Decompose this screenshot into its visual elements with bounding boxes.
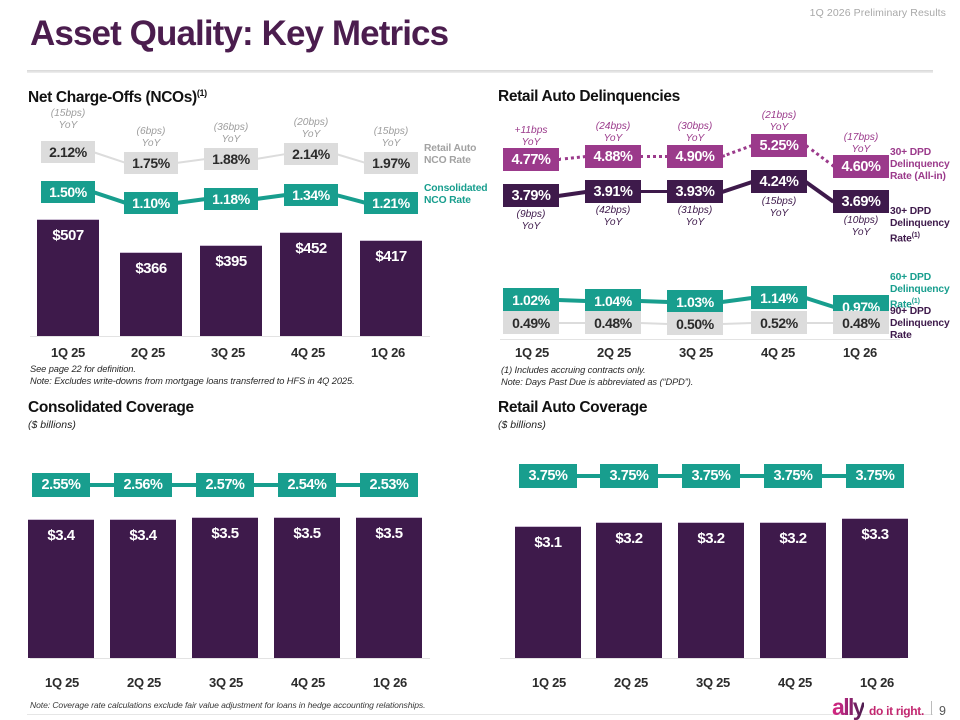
del-60plus-legend-line-1: Delinquency (890, 284, 950, 295)
retail-auto-coverage-rate-chip: 3.75% (519, 464, 577, 488)
nco-retail-rate-chip: 2.12% (41, 141, 95, 163)
footer-note: Note: Coverage rate calculations exclude… (30, 700, 425, 710)
del-60plus-connector (640, 299, 668, 303)
del-30plus-allin-chip: 4.90% (667, 145, 723, 168)
del-60plus-chip: 1.04% (585, 289, 641, 312)
nco-retail-legend-line-0: Retail Auto (424, 143, 476, 154)
consolidated-coverage-bar-value: $3.5 (211, 525, 238, 658)
consolidated-coverage-quarter-labels-item: 2Q 25 (103, 675, 185, 690)
del-30plus-yoy-line-1: YoY (852, 227, 871, 238)
retail-auto-coverage-bar: $3.3 (842, 518, 908, 658)
consolidated-coverage-rate-chip: 2.54% (278, 473, 336, 497)
del-90plus-connector (722, 322, 752, 325)
consolidated-coverage-bar-value: $3.4 (129, 527, 156, 658)
del-allin-yoy-line-1: YoY (852, 144, 871, 155)
retail-auto-coverage-quarter-labels-item: 4Q 25 (754, 675, 836, 690)
consolidated-coverage-quarter-labels-item: 4Q 25 (267, 675, 349, 690)
del-30plus-legend-line-1: Delinquency (890, 218, 950, 229)
nco-retail-yoy-line-1: YoY (302, 129, 321, 140)
consolidated-coverage-rate-connector (89, 483, 115, 487)
retail-auto-coverage-quarter-labels-item: 1Q 25 (508, 675, 590, 690)
del-allin-yoy-line-0: (17bps) (844, 132, 879, 143)
del-allin-yoy: (21bps)YoY (724, 110, 834, 134)
nco-bar: $395 (200, 245, 262, 336)
del-30plus-yoy-line-1: YoY (522, 221, 541, 232)
del-30plus-connector (640, 190, 668, 194)
slide: 1Q 2026 Preliminary Results Asset Qualit… (0, 0, 960, 720)
del-allin-yoy-line-0: (21bps) (762, 110, 797, 121)
nco-retail-rate-chip: 1.88% (204, 148, 258, 170)
ally-wordmark: ally (832, 694, 864, 720)
del-allin-legend-line-1: Delinquency (890, 159, 950, 170)
del-30plus-chip: 4.24% (751, 170, 807, 193)
nco-quarter-labels-item: 1Q 26 (348, 345, 428, 360)
nco-retail-rate-chip: 2.14% (284, 143, 338, 165)
retail-auto-coverage-rate-connector (657, 474, 683, 478)
del-allin-legend-line-0: 30+ DPD (890, 147, 931, 158)
consolidated-coverage-quarter-labels-item: 3Q 25 (185, 675, 267, 690)
consolidated-coverage-quarter-labels: 1Q 252Q 253Q 254Q 251Q 26 (21, 675, 431, 690)
nco-retail-yoy-line-0: (15bps) (51, 108, 86, 119)
retail-auto-coverage-rate-connector (739, 474, 765, 478)
retail-auto-coverage-quarter-labels-item: 1Q 26 (836, 675, 918, 690)
del-allin-yoy-line-1: YoY (770, 122, 789, 133)
del-allin-yoy-line-1: YoY (686, 133, 705, 144)
retail-auto-coverage-bar: $3.1 (515, 526, 581, 658)
ally-logo: ally do it right. 9 (832, 694, 946, 720)
del-90plus-chip: 0.49% (503, 311, 559, 334)
nco-quarter-labels-item: 2Q 25 (108, 345, 188, 360)
del-30plus-allin-chip: 5.25% (751, 134, 807, 157)
nco-consolidated-rate-chip: 1.50% (41, 181, 95, 203)
consolidated-coverage-rate-chip: 2.55% (32, 473, 90, 497)
retail-auto-coverage-bar: $3.2 (760, 522, 826, 658)
nco-quarter-labels: 1Q 252Q 253Q 254Q 251Q 26 (28, 345, 428, 360)
del-60plus-legend-sup: (1) (912, 298, 920, 305)
slide-kicker: 1Q 2026 Preliminary Results (810, 7, 946, 19)
del-90plus-connector (558, 322, 586, 324)
title-divider (27, 70, 933, 73)
del-footnote-0: (1) Includes accruing contracts only. (501, 365, 645, 375)
nco-retail-rate-chip: 1.75% (124, 152, 178, 174)
nco-consolidated-legend: ConsolidatedNCO Rate (424, 183, 487, 207)
retail-auto-coverage-bar-value: $3.2 (779, 530, 806, 658)
nco-quarter-labels-item: 1Q 25 (28, 345, 108, 360)
del-allin-yoy-line-0: (24bps) (596, 121, 631, 132)
del-quarter-labels-item: 1Q 25 (491, 345, 573, 360)
del-90plus-chip: 0.50% (667, 312, 723, 335)
nco-retail-legend: Retail AutoNCO Rate (424, 143, 476, 167)
nco-bar: $366 (120, 252, 182, 336)
del-60plus-chip: 1.02% (503, 288, 559, 311)
del-quarter-labels-item: 3Q 25 (655, 345, 737, 360)
consolidated-coverage-quarter-labels-item: 1Q 25 (21, 675, 103, 690)
nco-retail-rate-chip: 1.97% (364, 152, 418, 174)
nco-consolidated-rate-chip: 1.18% (204, 188, 258, 210)
nco-bar: $452 (280, 232, 342, 336)
nco-retail-yoy-line-0: (6bps) (137, 126, 166, 137)
panel-subtitle-consolidated-coverage: ($ billions) (28, 419, 480, 431)
del-30plus-yoy-line-0: (15bps) (762, 196, 797, 207)
del-30plus-yoy-line-1: YoY (770, 208, 789, 219)
consolidated-coverage-bar: $3.4 (28, 519, 94, 658)
del-axis (500, 339, 900, 340)
del-30plus-yoy-line-0: (10bps) (844, 215, 879, 226)
page-title: Asset Quality: Key Metrics (30, 14, 448, 54)
consolidated-coverage-bar-value: $3.5 (375, 525, 402, 658)
del-30plus-allin-chip: 4.77% (503, 148, 559, 171)
retail-auto-coverage-bar-value: $3.2 (615, 530, 642, 658)
retail-auto-coverage-quarter-labels-item: 3Q 25 (672, 675, 754, 690)
del-30plus-chip: 3.69% (833, 190, 889, 213)
retail-auto-coverage-rate-chip: 3.75% (846, 464, 904, 488)
del-90plus-legend-line-1: Delinquency (890, 318, 950, 329)
panel-subtitle-retail-auto-coverage: ($ billions) (498, 419, 950, 431)
del-quarter-labels-item: 1Q 26 (819, 345, 901, 360)
nco-retail-yoy-line-0: (36bps) (214, 122, 249, 133)
nco-quarter-labels-item: 3Q 25 (188, 345, 268, 360)
del-30plus-allin-chip: 4.60% (833, 155, 889, 178)
panel-title-retail-auto-coverage: Retail Auto Coverage (498, 399, 950, 417)
del-60plus-legend-line-0: 60+ DPD (890, 272, 931, 283)
consolidated-coverage-bar: $3.5 (274, 517, 340, 658)
del-90plus-connector (640, 322, 668, 325)
del-30plus-chip: 3.91% (585, 180, 641, 203)
del-30plus-allin-chip: 4.88% (585, 145, 641, 168)
retail-auto-coverage-rate-chip: 3.75% (764, 464, 822, 488)
del-90plus-chip: 0.52% (751, 311, 807, 334)
nco-consolidated-legend-line-1: NCO Rate (424, 195, 471, 206)
consolidated-coverage-rate-connector (171, 483, 197, 487)
del-allin-connector (640, 155, 668, 158)
nco-consolidated-rate-chip: 1.21% (364, 192, 418, 214)
retail-auto-coverage-rate-connector (821, 474, 847, 478)
panel-title-delinquencies: Retail Auto Delinquencies (498, 88, 950, 106)
panel-title-nco-sup: (1) (197, 88, 207, 98)
nco-quarter-labels-item: 4Q 25 (268, 345, 348, 360)
del-60plus-chip: 1.03% (667, 290, 723, 313)
del-quarter-labels: 1Q 252Q 253Q 254Q 251Q 26 (491, 345, 901, 360)
nco-retail-legend-line-1: NCO Rate (424, 155, 471, 166)
ally-tagline: do it right. (869, 704, 924, 718)
retail-auto-coverage-quarter-labels: 1Q 252Q 253Q 254Q 251Q 26 (508, 675, 918, 690)
retail-auto-coverage-bar-value: $3.1 (534, 534, 561, 658)
nco-bar-value: $417 (375, 248, 406, 336)
del-30plus-legend-line-0: 30+ DPD (890, 206, 931, 217)
del-60plus-connector (558, 298, 586, 302)
panel-title-nco: Net Charge-Offs (NCOs)(1) (28, 88, 480, 107)
del-30plus-yoy-line-0: (42bps) (596, 205, 631, 216)
del-allin-legend: 30+ DPDDelinquencyRate (All-in) (890, 147, 950, 183)
consolidated-coverage-axis (30, 658, 430, 659)
nco-bar: $417 (360, 240, 422, 336)
nco-bar-value: $395 (215, 253, 246, 336)
logo-divider (931, 701, 932, 715)
nco-retail-yoy-line-1: YoY (59, 120, 78, 131)
page-number: 9 (939, 704, 946, 718)
del-90plus-legend-line-0: 90+ DPD (890, 306, 931, 317)
nco-consolidated-rate-chip: 1.10% (124, 192, 178, 214)
consolidated-coverage-bar-value: $3.4 (47, 527, 74, 658)
consolidated-coverage-rate-chip: 2.57% (196, 473, 254, 497)
del-allin-yoy-line-0: (30bps) (678, 121, 713, 132)
retail-auto-coverage-axis (500, 658, 900, 659)
del-90plus-legend: 90+ DPDDelinquencyRate (890, 306, 950, 342)
panel-title-consolidated-coverage: Consolidated Coverage (28, 399, 480, 417)
retail-auto-coverage-rate-connector (576, 474, 601, 478)
del-30plus-chip: 3.79% (503, 184, 559, 207)
del-allin-legend-line-2: Rate (All-in) (890, 171, 946, 182)
consolidated-coverage-rate-chip: 2.53% (360, 473, 418, 497)
nco-retail-yoy-line-1: YoY (382, 138, 401, 149)
retail-auto-coverage-rate-chip: 3.75% (682, 464, 740, 488)
del-30plus-legend: 30+ DPDDelinquencyRate(1) (890, 206, 950, 245)
nco-retail-yoy-line-1: YoY (222, 134, 241, 145)
del-footnote-1: Note: Days Past Due is abbreviated as (“… (501, 377, 693, 387)
consolidated-coverage-bar: $3.5 (356, 517, 422, 658)
del-30plus-yoy-line-0: (31bps) (678, 205, 713, 216)
del-90plus-chip: 0.48% (833, 311, 889, 334)
retail-auto-coverage-bar-value: $3.2 (697, 530, 724, 658)
del-90plus-chip: 0.48% (585, 311, 641, 334)
nco-bar-value: $366 (135, 260, 166, 336)
consolidated-coverage-quarter-labels-item: 1Q 26 (349, 675, 431, 690)
del-30plus-legend-sup: (1) (912, 232, 920, 239)
nco-retail-yoy-line-0: (15bps) (374, 126, 409, 137)
del-quarter-labels-item: 4Q 25 (737, 345, 819, 360)
nco-bar-value: $507 (52, 227, 83, 336)
nco-bar-value: $452 (295, 240, 326, 336)
del-allin-yoy-line-1: YoY (604, 133, 623, 144)
del-quarter-labels-item: 2Q 25 (573, 345, 655, 360)
consolidated-coverage-bar-value: $3.5 (293, 525, 320, 658)
nco-footnote-0: See page 22 for definition. (30, 364, 136, 374)
nco-retail-yoy-line-0: (20bps) (294, 117, 329, 128)
consolidated-coverage-rate-chip: 2.56% (114, 473, 172, 497)
retail-auto-coverage-bar: $3.2 (678, 522, 744, 658)
retail-auto-coverage-rate-chip: 3.75% (600, 464, 658, 488)
retail-auto-coverage-bar: $3.2 (596, 522, 662, 658)
del-30plus-yoy-line-1: YoY (686, 217, 705, 228)
del-30plus-yoy-line-0: (9bps) (517, 209, 546, 220)
nco-consolidated-rate-chip: 1.34% (284, 184, 338, 206)
retail-auto-coverage-quarter-labels-item: 2Q 25 (590, 675, 672, 690)
consolidated-coverage-bar: $3.4 (110, 519, 176, 658)
consolidated-coverage-bar: $3.5 (192, 517, 258, 658)
del-30plus-chip: 3.93% (667, 180, 723, 203)
nco-consolidated-legend-line-0: Consolidated (424, 183, 487, 194)
nco-retail-yoy-line-1: YoY (142, 138, 161, 149)
consolidated-coverage-rate-connector (335, 483, 361, 487)
footer-divider (27, 714, 933, 715)
nco-footnote-1: Note: Excludes write-downs from mortgage… (30, 376, 355, 386)
del-allin-yoy-line-1: YoY (522, 137, 541, 148)
del-allin-yoy-line-0: +11bps (515, 125, 548, 136)
del-30plus-legend-line-2: Rate (890, 233, 912, 244)
panel-title-nco-text: Net Charge-Offs (NCOs) (28, 89, 197, 106)
del-60plus-chip: 1.14% (751, 286, 807, 309)
del-90plus-connector (806, 322, 834, 324)
del-30plus-yoy-line-1: YoY (604, 217, 623, 228)
retail-auto-coverage-bar-value: $3.3 (861, 526, 888, 658)
nco-bar: $507 (37, 219, 99, 336)
nco-axis (30, 336, 430, 337)
consolidated-coverage-rate-connector (253, 483, 279, 487)
